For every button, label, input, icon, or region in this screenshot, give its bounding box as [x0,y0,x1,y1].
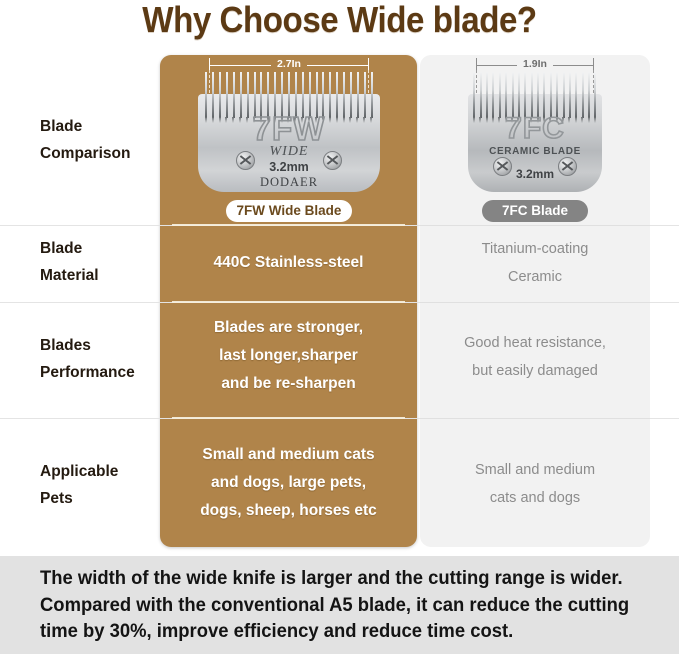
wide-blade-code: 7FW [198,110,380,148]
page-title: Why Choose Wide blade? [27,0,652,42]
comparison-infographic: Why Choose Wide blade? Blade Comparison … [0,0,679,654]
row-label-blade-material: Blade Material [40,235,165,289]
ceramic-blade-figure: 1.9In 7FC CERAMIC BLADE 3.2mm [468,58,602,193]
wide-blade-brand: DODAER [198,175,380,190]
footer-band: The width of the wide knife is larger an… [0,556,679,654]
row-divider-1 [0,225,679,226]
wide-blade-dimension: 2.7In [198,58,380,72]
cell-performance-ceramic: Good heat resistance, but easily damaged [420,329,650,385]
row-label-applicable-pets: Applicable Pets [40,458,165,512]
ceramic-blade-pill-label: 7FC Blade [482,200,588,222]
wide-blade-screw-left [236,151,255,170]
cell-material-ceramic: Titanium-coating Ceramic [420,235,650,291]
comparison-table: Blade Comparison 2.7In 7FW WIDE 3.2mm [0,55,679,548]
cell-material-wide: 440C Stainless-steel [160,249,417,277]
wide-blade-graphic: 7FW WIDE 3.2mm DODAER [198,72,380,192]
ceramic-blade-dimension-label: 1.9In [468,57,602,71]
row-divider-2 [0,302,679,303]
row-label-blades-performance: Blades Performance [40,332,165,386]
wide-blade-dimension-label: 2.7In [198,57,380,71]
wide-blade-thickness: 3.2mm [198,160,380,174]
wide-blade-pill-label: 7FW Wide Blade [226,200,352,222]
footer-text: The width of the wide knife is larger an… [40,566,632,646]
ceramic-blade-thickness: 3.2mm [468,167,602,181]
cell-pets-ceramic: Small and medium cats and dogs [420,456,650,512]
wide-blade-screw-right [323,151,342,170]
ceramic-blade-screw-right [558,157,577,176]
ceramic-blade-code: 7FC [468,112,602,146]
cell-performance-wide: Blades are stronger, last longer,sharper… [160,314,417,398]
row-divider-3 [0,418,679,419]
row-label-blade-comparison: Blade Comparison [40,113,165,167]
ceramic-blade-dimension: 1.9In [468,58,602,72]
ceramic-blade-screw-left [493,157,512,176]
ceramic-blade-graphic: 7FC CERAMIC BLADE 3.2mm [468,72,602,192]
cell-pets-wide: Small and medium cats and dogs, large pe… [160,441,417,525]
wide-blade-figure: 2.7In 7FW WIDE 3.2mm DODAER [198,58,380,193]
ceramic-blade-type-text: CERAMIC BLADE [468,146,602,157]
wide-blade-wide-text: WIDE [198,144,380,160]
